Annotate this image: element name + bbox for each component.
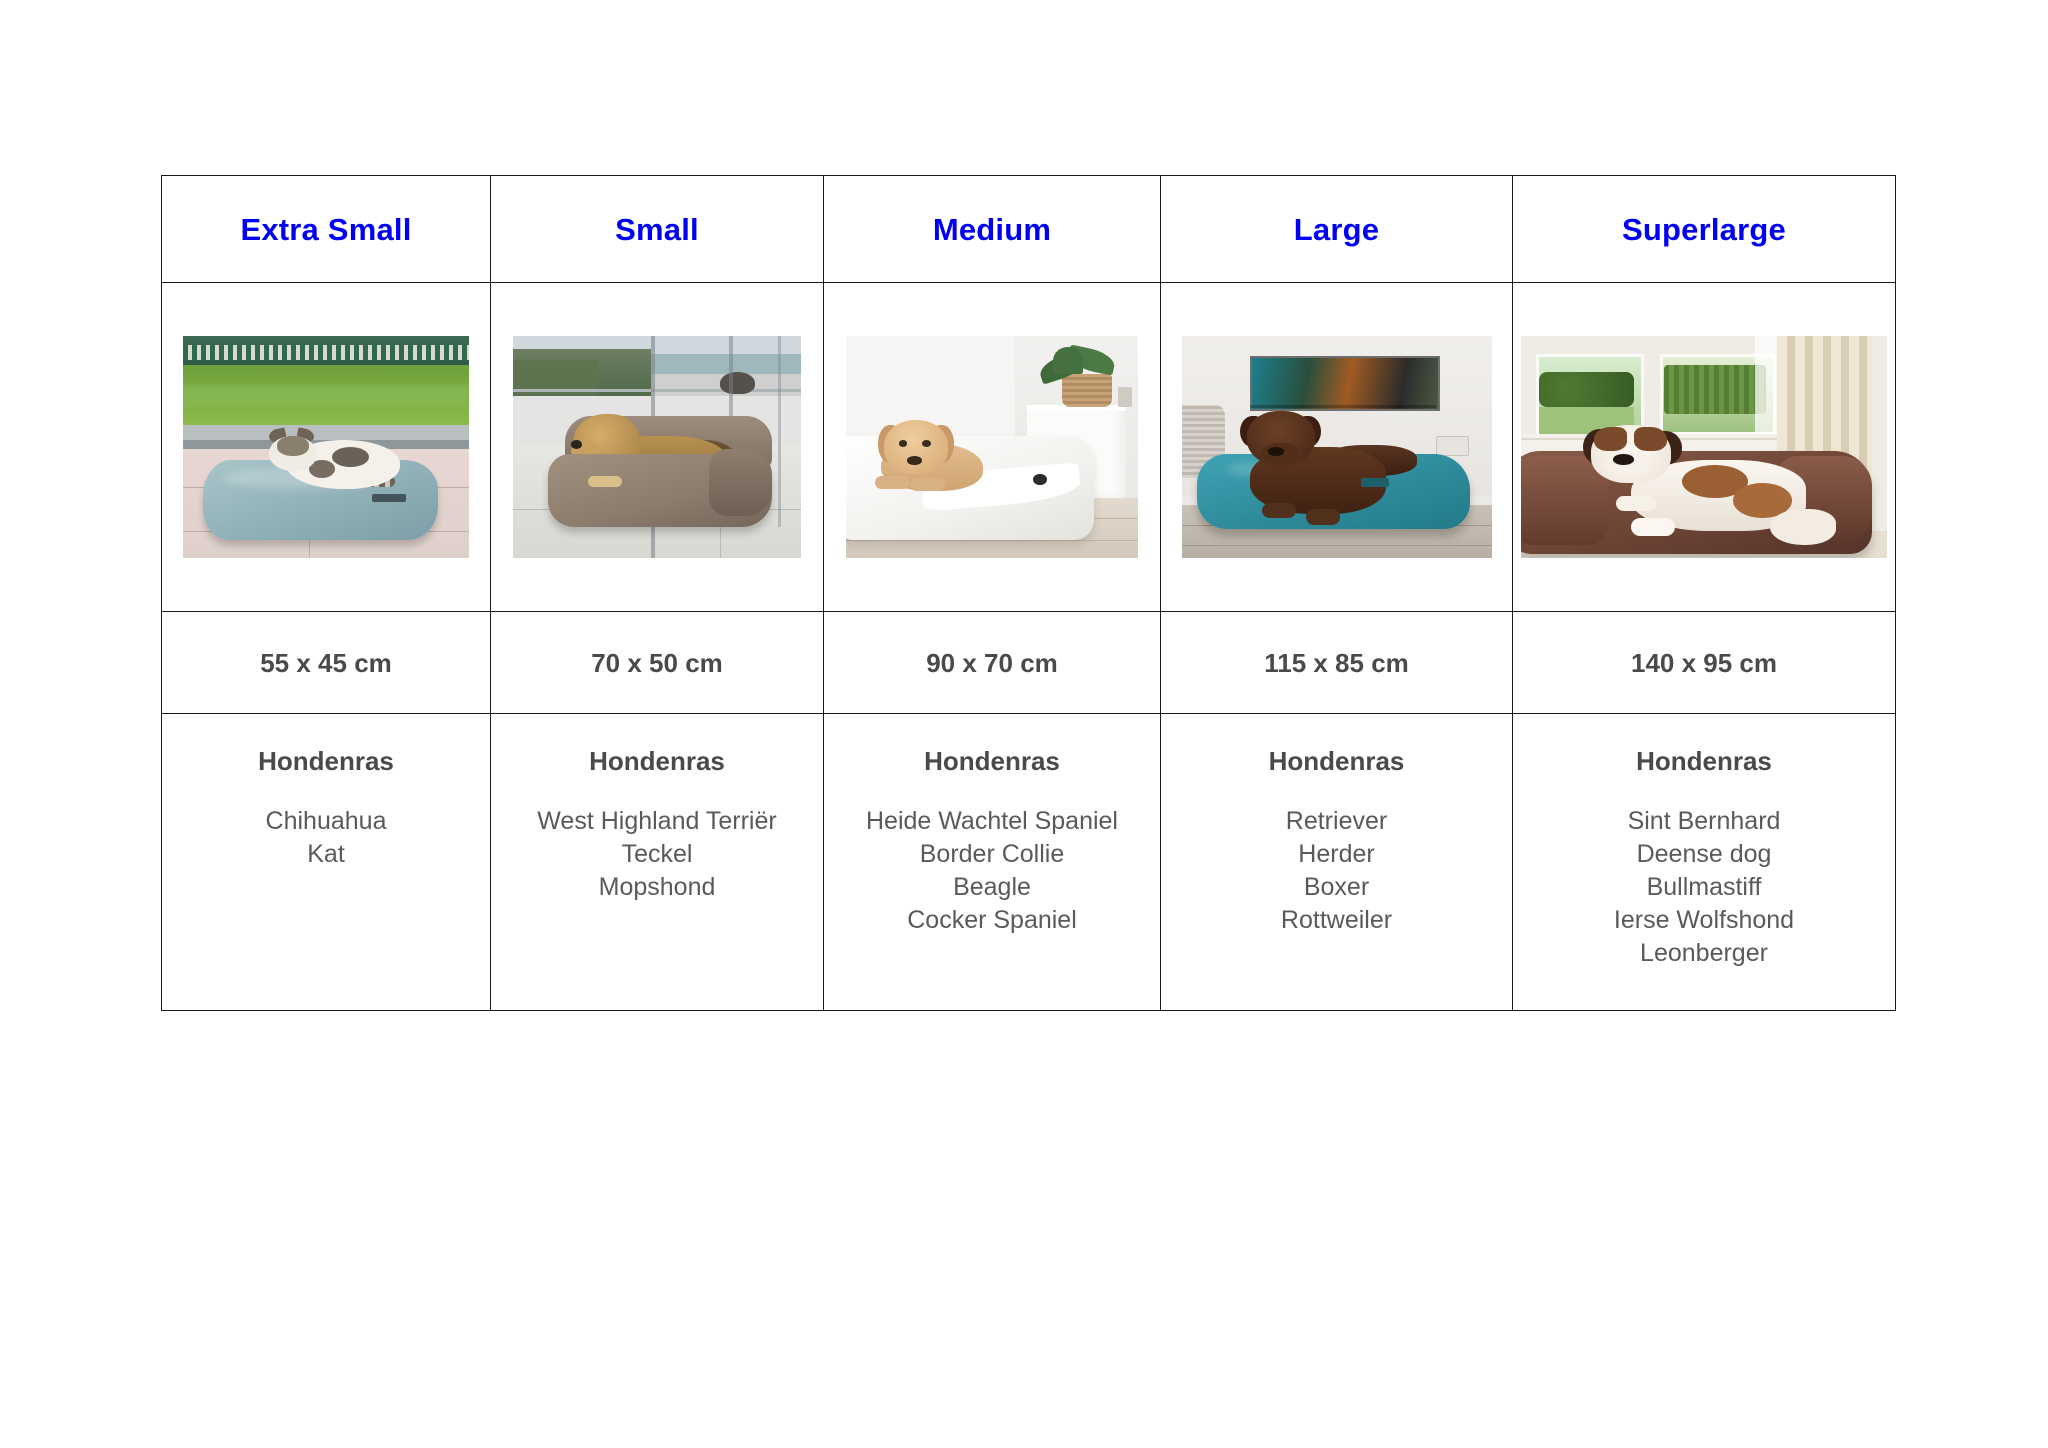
dimensions-large: 115 x 85 cm bbox=[1161, 650, 1512, 676]
breed-item: Ierse Wolfshond bbox=[1513, 904, 1895, 937]
photo-medium-cockapoo-on-white-bed bbox=[846, 336, 1138, 558]
breed-item: Teckel bbox=[491, 838, 823, 871]
photo-x-hedge bbox=[1664, 365, 1766, 414]
breed-heading-small: Hondenras bbox=[491, 748, 823, 774]
dimensions-cell-large: 115 x 85 cm bbox=[1161, 612, 1513, 714]
breeds-cell-large: Hondenras Retriever Herder Boxer Rottwei… bbox=[1161, 714, 1513, 1011]
breed-heading-superlarge: Hondenras bbox=[1513, 748, 1895, 774]
breed-list-extra-small: Chihuahua Kat bbox=[162, 805, 490, 871]
photo-m-plant-leaf-3 bbox=[1053, 347, 1082, 374]
breed-item: Cocker Spaniel bbox=[824, 904, 1160, 937]
photo-wrap-extra-small bbox=[162, 283, 490, 611]
photo-extra-small-cat-on-blue-bed bbox=[183, 336, 469, 558]
breed-item: Deense dog bbox=[1513, 838, 1895, 871]
photo-s-railing bbox=[513, 389, 801, 392]
breed-list-superlarge: Sint Bernhard Deense dog Bullmastiff Ier… bbox=[1513, 805, 1895, 970]
photo-l-artwork-shadow bbox=[1250, 405, 1436, 408]
photo-wrap-large bbox=[1161, 283, 1512, 611]
photo-s-outdoor-sculpture bbox=[720, 372, 755, 394]
photo-m-candle bbox=[1118, 387, 1133, 407]
size-name-extra-small: Extra Small bbox=[162, 214, 490, 245]
breed-heading-extra-small: Hondenras bbox=[162, 748, 490, 774]
photo-m-wicker-planter bbox=[1062, 374, 1112, 407]
breed-heading-medium: Hondenras bbox=[824, 748, 1160, 774]
photo-xs-bed-label-tag bbox=[372, 494, 406, 503]
table-photo-row bbox=[162, 283, 1896, 612]
photo-l-dog-paw-left bbox=[1262, 503, 1296, 519]
breed-list-medium: Heide Wachtel Spaniel Border Collie Beag… bbox=[824, 805, 1160, 937]
dimensions-extra-small: 55 x 45 cm bbox=[162, 650, 490, 676]
size-name-medium: Medium bbox=[824, 214, 1160, 245]
photo-x-dog-tail-fur bbox=[1770, 509, 1836, 545]
breed-block-large: Hondenras Retriever Herder Boxer Rottwei… bbox=[1161, 714, 1512, 937]
photo-cell-medium bbox=[824, 283, 1161, 612]
photo-superlarge-saint-bernard-on-brown-bed bbox=[1521, 336, 1887, 558]
photo-l-dog-nose bbox=[1268, 447, 1284, 456]
photo-cell-superlarge bbox=[1513, 283, 1896, 612]
photo-large-labrador-on-teal-bed bbox=[1182, 336, 1492, 558]
photo-cell-large bbox=[1161, 283, 1513, 612]
photo-xs-cat-spot-1 bbox=[332, 447, 369, 467]
photo-x-dog-eye-mask-left bbox=[1594, 427, 1627, 451]
photo-m-dog-paw-right bbox=[910, 478, 945, 491]
size-name-large: Large bbox=[1161, 214, 1512, 245]
breed-item: West Highland Terriër bbox=[491, 805, 823, 838]
photo-m-floor-plank-2 bbox=[846, 540, 1138, 541]
breed-block-small: Hondenras West Highland Terriër Teckel M… bbox=[491, 714, 823, 904]
photo-m-dog-paw-left bbox=[875, 476, 910, 489]
breeds-cell-medium: Hondenras Heide Wachtel Spaniel Border C… bbox=[824, 714, 1161, 1011]
header-cell-large: Large bbox=[1161, 176, 1513, 283]
header-cell-small: Small bbox=[491, 176, 824, 283]
photo-m-dog-eye-right bbox=[922, 440, 931, 447]
dimensions-medium: 90 x 70 cm bbox=[824, 650, 1160, 676]
table-dimensions-row: 55 x 45 cm 70 x 50 cm 90 x 70 cm 115 x 8… bbox=[162, 612, 1896, 714]
photo-x-dog-paw-upper bbox=[1616, 496, 1656, 512]
dimensions-superlarge: 140 x 95 cm bbox=[1513, 650, 1895, 676]
breed-heading-large: Hondenras bbox=[1161, 748, 1512, 774]
breed-item: Heide Wachtel Spaniel bbox=[824, 805, 1160, 838]
photo-m-dog-nose bbox=[907, 456, 922, 465]
breed-item: Mopshond bbox=[491, 871, 823, 904]
photo-l-wall-socket bbox=[1436, 436, 1469, 456]
breed-item: Bullmastiff bbox=[1513, 871, 1895, 904]
photo-l-floor-line-2 bbox=[1182, 545, 1492, 546]
breed-item: Boxer bbox=[1161, 871, 1512, 904]
photo-x-tree bbox=[1539, 372, 1634, 408]
photo-wrap-medium bbox=[824, 283, 1160, 611]
breed-item: Border Collie bbox=[824, 838, 1160, 871]
breed-block-medium: Hondenras Heide Wachtel Spaniel Border C… bbox=[824, 714, 1160, 937]
photo-l-bed-label-tag bbox=[1361, 478, 1389, 487]
breeds-cell-extra-small: Hondenras Chihuahua Kat bbox=[162, 714, 491, 1011]
breeds-cell-small: Hondenras West Highland Terriër Teckel M… bbox=[491, 714, 824, 1011]
header-cell-medium: Medium bbox=[824, 176, 1161, 283]
photo-cell-extra-small bbox=[162, 283, 491, 612]
photo-m-bed-tag bbox=[1033, 474, 1048, 485]
photo-m-dog-head bbox=[884, 420, 948, 473]
breed-item: Leonberger bbox=[1513, 937, 1895, 970]
breed-list-small: West Highland Terriër Teckel Mopshond bbox=[491, 805, 823, 904]
photo-l-wall-artwork bbox=[1250, 356, 1440, 411]
photo-cell-small bbox=[491, 283, 824, 612]
dimensions-small: 70 x 50 cm bbox=[491, 650, 823, 676]
header-cell-extra-small: Extra Small bbox=[162, 176, 491, 283]
breeds-cell-superlarge: Hondenras Sint Bernhard Deense dog Bullm… bbox=[1513, 714, 1896, 1011]
breed-block-extra-small: Hondenras Chihuahua Kat bbox=[162, 714, 490, 871]
photo-x-dog-nose bbox=[1613, 454, 1635, 465]
dimensions-cell-extra-small: 55 x 45 cm bbox=[162, 612, 491, 714]
photo-x-dog-eye-mask-right bbox=[1634, 427, 1667, 451]
breed-item: Rottweiler bbox=[1161, 904, 1512, 937]
photo-s-dog-paw bbox=[588, 476, 623, 487]
photo-wrap-superlarge bbox=[1513, 283, 1895, 611]
dimensions-cell-medium: 90 x 70 cm bbox=[824, 612, 1161, 714]
dimensions-cell-superlarge: 140 x 95 cm bbox=[1513, 612, 1896, 714]
breed-item: Beagle bbox=[824, 871, 1160, 904]
table-breeds-row: Hondenras Chihuahua Kat Hondenras West H… bbox=[162, 714, 1896, 1011]
breed-list-large: Retriever Herder Boxer Rottweiler bbox=[1161, 805, 1512, 937]
size-name-superlarge: Superlarge bbox=[1513, 214, 1895, 245]
photo-xs-hedge bbox=[183, 345, 469, 361]
size-chart-page: Extra Small Small Medium Large Superlarg… bbox=[0, 0, 2048, 1448]
breed-item: Kat bbox=[162, 838, 490, 871]
size-name-small: Small bbox=[491, 214, 823, 245]
breed-item: Herder bbox=[1161, 838, 1512, 871]
breed-item: Retriever bbox=[1161, 805, 1512, 838]
breed-item: Chihuahua bbox=[162, 805, 490, 838]
photo-x-dog-paw-lower bbox=[1631, 518, 1675, 536]
dimensions-cell-small: 70 x 50 cm bbox=[491, 612, 824, 714]
photo-s-window-frame-3 bbox=[778, 336, 781, 527]
photo-l-dog-paw-right bbox=[1306, 509, 1340, 525]
photo-s-bed-armrest bbox=[709, 449, 772, 516]
breed-item: Sint Bernhard bbox=[1513, 805, 1895, 838]
photo-xs-grass-reflection bbox=[183, 385, 469, 407]
header-cell-superlarge: Superlarge bbox=[1513, 176, 1896, 283]
breed-block-superlarge: Hondenras Sint Bernhard Deense dog Bullm… bbox=[1513, 714, 1895, 970]
dog-bed-size-table: Extra Small Small Medium Large Superlarg… bbox=[161, 175, 1896, 1011]
photo-xs-cat-face-marking bbox=[277, 436, 308, 456]
photo-small-terrier-on-taupe-bed bbox=[513, 336, 801, 558]
photo-wrap-small bbox=[491, 283, 823, 611]
table-header-row: Extra Small Small Medium Large Superlarg… bbox=[162, 176, 1896, 283]
